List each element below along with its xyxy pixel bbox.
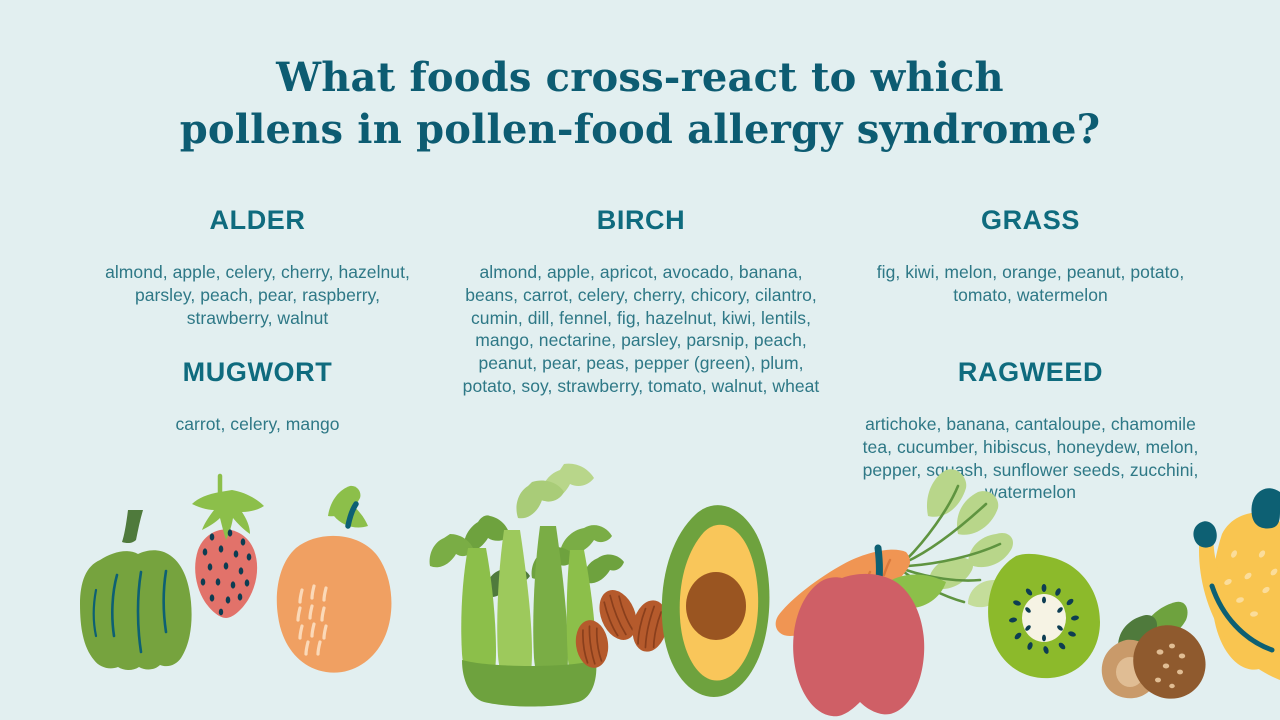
strawberry-icon <box>192 476 264 618</box>
food-illustration-row <box>0 430 1280 720</box>
infographic-canvas: What foods cross-react to which pollens … <box>0 0 1280 720</box>
page-title-line-1: What foods cross-react to which <box>0 52 1280 104</box>
pollen-group-mugwort: MUGWORT carrot, celery, mango <box>90 357 425 436</box>
food-list-birch: almond, apple, apricot, avocado, banana,… <box>455 261 827 398</box>
pollen-heading-ragweed: RAGWEED <box>862 357 1199 387</box>
food-list-alder: almond, apple, celery, cherry, hazelnut,… <box>90 261 425 329</box>
hazelnuts-icon <box>1102 602 1206 699</box>
page-title-line-2: pollens in pollen-food allergy syndrome? <box>0 104 1280 156</box>
pollen-group-alder: ALDER almond, apple, celery, cherry, haz… <box>90 205 425 329</box>
kiwi-slice-icon <box>988 554 1100 678</box>
page-title: What foods cross-react to which pollens … <box>0 52 1280 156</box>
food-list-grass: fig, kiwi, melon, orange, peanut, potato… <box>862 261 1199 307</box>
green-pepper-icon <box>80 510 192 670</box>
pollen-group-birch: BIRCH almond, apple, apricot, avocado, b… <box>455 205 827 398</box>
pollen-heading-alder: ALDER <box>90 205 425 235</box>
avocado-half-icon <box>662 505 770 697</box>
pollen-group-grass: GRASS fig, kiwi, melon, orange, peanut, … <box>862 205 1199 307</box>
pollen-heading-mugwort: MUGWORT <box>90 357 425 387</box>
banana-icon <box>1193 488 1280 680</box>
celery-icon <box>430 464 624 707</box>
pollen-heading-birch: BIRCH <box>455 205 827 235</box>
orange-icon <box>277 486 392 673</box>
pollen-heading-grass: GRASS <box>862 205 1199 235</box>
